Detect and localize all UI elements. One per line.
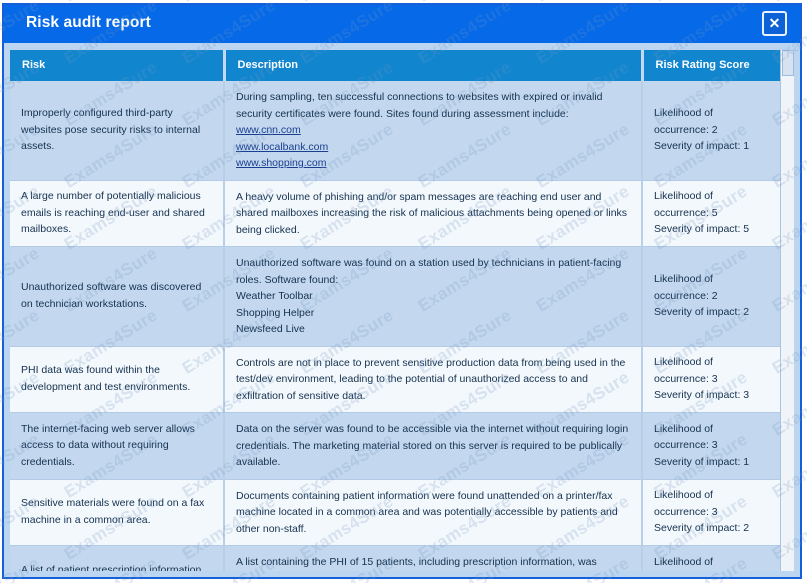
table-row: Unauthorized software was discovered on … [10,247,783,347]
likelihood-value: occurrence: 3 [654,371,772,388]
likelihood-label: Likelihood of [654,554,772,571]
column-header-description[interactable]: Description [224,50,642,81]
cell-risk-rating-score: Likelihood ofoccurrence: 3Severity of im… [642,546,783,572]
table-row: Sensitive materials were found on a fax … [10,479,783,546]
description-link[interactable]: www.localbank.com [236,139,328,156]
table-body: Improperly configured third-party websit… [10,81,783,571]
table-row: The internet-facing web server allows ac… [10,413,783,480]
likelihood-label: Likelihood of [654,105,772,122]
description-line: Newsfeed Live [236,321,630,338]
cell-risk: A large number of potentially malicious … [10,180,224,247]
likelihood-label: Likelihood of [654,271,772,288]
table-header: Risk Description Risk Rating Score [10,50,783,81]
cell-description: A heavy volume of phishing and/or spam m… [224,180,642,247]
cell-description: During sampling, ten successful connecti… [224,81,642,180]
likelihood-label: Likelihood of [654,354,772,371]
severity-value: Severity of impact: 1 [654,138,772,155]
likelihood-value: occurrence: 2 [654,288,772,305]
risk-audit-table: Risk Description Risk Rating Score Impro… [10,50,783,571]
table-row: Improperly configured third-party websit… [10,81,783,180]
close-icon[interactable]: ✕ [762,11,787,36]
cell-risk-rating-score: Likelihood ofoccurrence: 3Severity of im… [642,479,783,546]
description-link[interactable]: www.cnn.com [236,122,301,139]
likelihood-value: occurrence: 3 [654,437,772,454]
description-link[interactable]: www.shopping.com [236,155,326,172]
severity-value: Severity of impact: 2 [654,520,772,537]
likelihood-label: Likelihood of [654,487,772,504]
cell-risk: The internet-facing web server allows ac… [10,413,224,480]
severity-value: Severity of impact: 3 [654,387,772,404]
likelihood-value: occurrence: 5 [654,205,772,222]
likelihood-label: Likelihood of [654,188,772,205]
cell-risk-rating-score: Likelihood ofoccurrence: 5Severity of im… [642,180,783,247]
cell-risk: Improperly configured third-party websit… [10,81,224,180]
description-line: Controls are not in place to prevent sen… [236,355,630,405]
cell-risk: Unauthorized software was discovered on … [10,247,224,347]
severity-value: Severity of impact: 2 [654,304,772,321]
description-line: During sampling, ten successful connecti… [236,89,630,122]
table-header-row: Risk Description Risk Rating Score [10,50,783,81]
description-line: A heavy volume of phishing and/or spam m… [236,189,630,239]
column-header-risk-rating-score[interactable]: Risk Rating Score [642,50,783,81]
table-scroll-area: Risk Description Risk Rating Score Impro… [10,50,794,571]
description-line: A list containing the PHI of 15 patients… [236,554,630,571]
likelihood-value: occurrence: 2 [654,122,772,139]
description-line: Shopping Helper [236,305,630,322]
cell-risk-rating-score: Likelihood ofoccurrence: 3Severity of im… [642,346,783,413]
cell-description: A list containing the PHI of 15 patients… [224,546,642,572]
likelihood-value: occurrence: 3 [654,504,772,521]
table-row: A large number of potentially malicious … [10,180,783,247]
vertical-scrollbar-thumb[interactable] [782,50,794,76]
table-row: PHI data was found within the developmen… [10,346,783,413]
description-line: Data on the server was found to be acces… [236,421,630,471]
cell-description: Unauthorized software was found on a sta… [224,247,642,347]
likelihood-label: Likelihood of [654,421,772,438]
cell-description: Documents containing patient information… [224,479,642,546]
description-line: Weather Toolbar [236,288,630,305]
description-line: Unauthorized software was found on a sta… [236,255,630,288]
column-header-risk[interactable]: Risk [10,50,224,81]
cell-risk: Sensitive materials were found on a fax … [10,479,224,546]
vertical-scrollbar-track[interactable] [780,50,794,571]
table-row: A list of patient prescription informati… [10,546,783,572]
likelihood-value: occurrence: 3 [654,570,772,571]
severity-value: Severity of impact: 5 [654,221,772,238]
dialog-titlebar: Risk audit report ✕ [4,5,800,43]
cell-description: Data on the server was found to be acces… [224,413,642,480]
severity-value: Severity of impact: 1 [654,454,772,471]
cell-risk: A list of patient prescription informati… [10,546,224,572]
cell-risk-rating-score: Likelihood ofoccurrence: 2Severity of im… [642,81,783,180]
cell-risk: PHI data was found within the developmen… [10,346,224,413]
risk-audit-report-dialog: Risk audit report ✕ Risk Description Ris… [2,3,802,579]
cell-risk-rating-score: Likelihood ofoccurrence: 2Severity of im… [642,247,783,347]
description-line: Documents containing patient information… [236,488,630,538]
cell-description: Controls are not in place to prevent sen… [224,346,642,413]
dialog-title: Risk audit report [26,14,151,32]
cell-risk-rating-score: Likelihood ofoccurrence: 3Severity of im… [642,413,783,480]
dialog-body: Risk Description Risk Rating Score Impro… [4,43,800,577]
